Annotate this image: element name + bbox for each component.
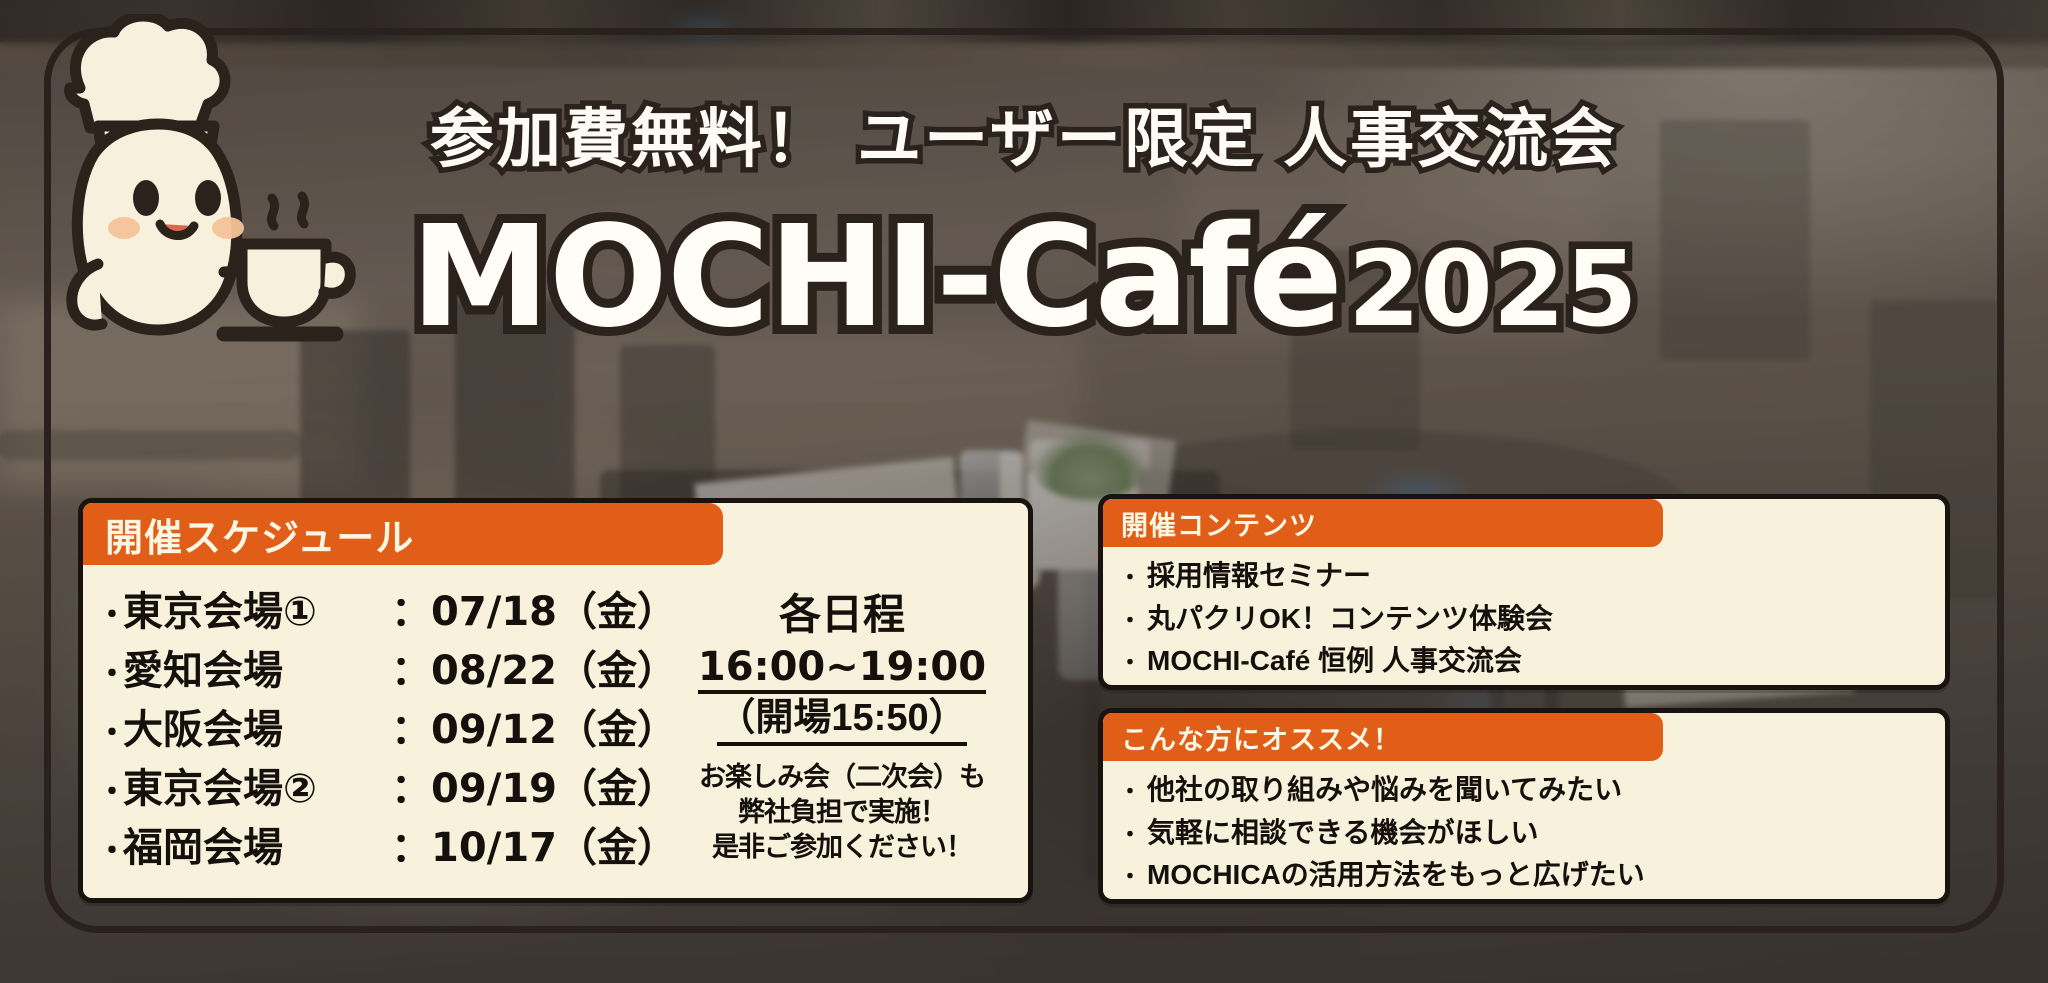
afterparty-note: お楽しみ会（二次会）も 弊社負担で実施！ 是非ご参加ください！: [677, 760, 1007, 865]
event-time: 16:00~19:00: [698, 644, 986, 694]
venue-label: 愛知会場: [123, 638, 391, 696]
main-title: MOCHI-Café2025: [0, 196, 2048, 359]
afterparty-note-line: 弊社負担で実施！: [677, 795, 1007, 830]
bullet-icon: ・: [97, 778, 123, 808]
schedule-row: ・ 東京会場② ：09/19（金）: [97, 756, 677, 815]
bullet-icon: ・: [1119, 779, 1141, 804]
recommend-panel: こんな方にオススメ！ ・他社の取り組みや悩みを聞いてみたい ・気軽に相談できる機…: [1098, 708, 1950, 904]
schedule-row: ・ 愛知会場 ：08/22（金）: [97, 638, 677, 697]
subheadline: 参加費無料！ ユーザー限定 人事交流会: [0, 88, 2048, 180]
bullet-icon: ・: [1119, 650, 1141, 675]
venue-label: 福岡会場: [123, 815, 391, 873]
afterparty-note-line: 是非ご参加ください！: [677, 830, 1007, 865]
contents-panel: 開催コンテンツ ・採用情報セミナー ・丸パクリOK！コンテンツ体験会 ・MOCH…: [1098, 494, 1950, 690]
list-item-label: MOCHICAの活用方法をもっと広げたい: [1147, 859, 1645, 890]
main-title-text: MOCHI-Café: [411, 196, 1343, 359]
recommend-heading: こんな方にオススメ！: [1121, 718, 1401, 757]
schedule-row: ・ 福岡会場 ：10/17（金）: [97, 815, 677, 874]
bullet-icon: ・: [97, 719, 123, 749]
schedule-panel-header: 開催スケジュール: [83, 503, 723, 565]
schedule-heading: 開催スケジュール: [105, 507, 414, 562]
schedule-panel: 開催スケジュール ・ 東京会場① ：07/18（金） ・ 愛知会場 ：08/22…: [78, 498, 1033, 903]
bullet-icon: ・: [1119, 608, 1141, 633]
venue-label: 東京会場①: [123, 579, 391, 637]
recommend-panel-header: こんな方にオススメ！: [1103, 713, 1663, 761]
contents-list: ・採用情報セミナー ・丸パクリOK！コンテンツ体験会 ・MOCHI-Café 恒…: [1103, 547, 1945, 683]
venue-date: ：10/17（金）: [391, 815, 677, 873]
poster-canvas: 参加費無料！ ユーザー限定 人事交流会 MOCHI-Café2025 開催スケジ…: [0, 0, 2048, 983]
list-item: ・MOCHICAの活用方法をもっと広げたい: [1119, 854, 1945, 897]
main-title-year: 2025: [1348, 228, 1637, 350]
list-item: ・気軽に相談できる機会がほしい: [1119, 812, 1945, 855]
bullet-icon: ・: [1119, 864, 1141, 889]
venue-date: ：09/12（金）: [391, 697, 677, 755]
schedule-rows: ・ 東京会場① ：07/18（金） ・ 愛知会場 ：08/22（金） ・ 大阪会…: [97, 579, 677, 874]
contents-panel-header: 開催コンテンツ: [1103, 499, 1663, 547]
list-item-label: 他社の取り組みや悩みを聞いてみたい: [1147, 774, 1622, 805]
list-item: ・採用情報セミナー: [1119, 555, 1945, 598]
list-item-label: MOCHI-Café 恒例 人事交流会: [1147, 645, 1522, 676]
list-item-label: 採用情報セミナー: [1147, 560, 1371, 591]
list-item: ・丸パクリOK！コンテンツ体験会: [1119, 598, 1945, 641]
schedule-row: ・ 大阪会場 ：09/12（金）: [97, 697, 677, 756]
bullet-icon: ・: [1119, 822, 1141, 847]
list-item: ・MOCHI-Café 恒例 人事交流会: [1119, 640, 1945, 683]
list-item: ・他社の取り組みや悩みを聞いてみたい: [1119, 769, 1945, 812]
times-title: 各日程: [677, 581, 1007, 642]
bullet-icon: ・: [97, 601, 123, 631]
schedule-time-block: 各日程 16:00~19:00 （開場15:50） お楽しみ会（二次会）も 弊社…: [677, 579, 1007, 874]
venue-date: ：09/19（金）: [391, 756, 677, 814]
afterparty-note-line: お楽しみ会（二次会）も: [677, 760, 1007, 795]
bullet-icon: ・: [1119, 565, 1141, 590]
list-item-label: 丸パクリOK！コンテンツ体験会: [1147, 603, 1553, 634]
contents-heading: 開催コンテンツ: [1121, 504, 1317, 543]
schedule-content: ・ 東京会場① ：07/18（金） ・ 愛知会場 ：08/22（金） ・ 大阪会…: [83, 565, 1028, 874]
list-item-label: 気軽に相談できる機会がほしい: [1147, 817, 1538, 848]
bullet-icon: ・: [97, 660, 123, 690]
venue-label: 大阪会場: [123, 697, 391, 755]
schedule-row: ・ 東京会場① ：07/18（金）: [97, 579, 677, 638]
venue-date: ：07/18（金）: [391, 579, 677, 637]
recommend-list: ・他社の取り組みや悩みを聞いてみたい ・気軽に相談できる機会がほしい ・MOCH…: [1103, 761, 1945, 897]
venue-date: ：08/22（金）: [391, 638, 677, 696]
door-open-time: （開場15:50）: [717, 696, 966, 746]
venue-label: 東京会場②: [123, 756, 391, 814]
bullet-icon: ・: [97, 837, 123, 867]
